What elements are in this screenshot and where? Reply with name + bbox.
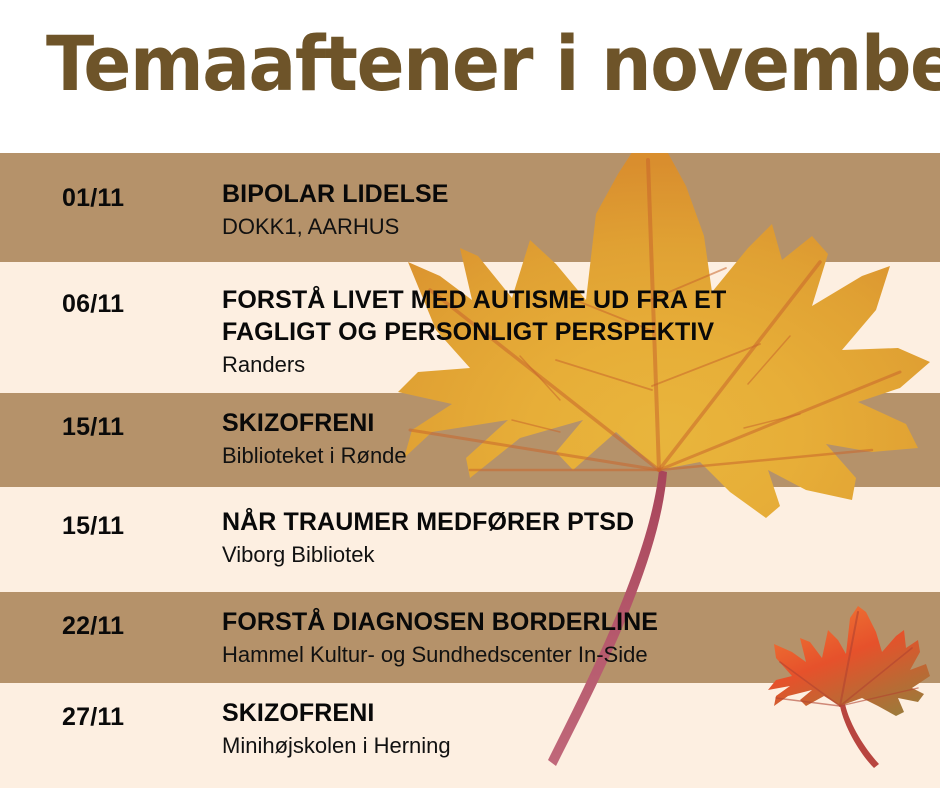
event-details: SKIZOFRENIMinihøjskolen i Herning <box>222 697 930 760</box>
event-venue: Viborg Bibliotek <box>222 540 930 569</box>
schedule-row[interactable]: 06/11FORSTÅ LIVET MED AUTISME UD FRA ET … <box>0 262 940 393</box>
event-date: 22/11 <box>62 612 124 641</box>
event-details: FORSTÅ LIVET MED AUTISME UD FRA ET FAGLI… <box>222 284 930 379</box>
poster-canvas: Temaaftener i november 01/11BIPOLAR LIDE… <box>0 0 940 788</box>
event-details: FORSTÅ DIAGNOSEN BORDERLINEHammel Kultur… <box>222 606 930 669</box>
event-date: 15/11 <box>62 512 124 541</box>
schedule-row[interactable]: 15/11NÅR TRAUMER MEDFØRER PTSDViborg Bib… <box>0 487 940 592</box>
event-venue: Minihøjskolen i Herning <box>222 731 930 760</box>
schedule-row[interactable]: 27/11SKIZOFRENIMinihøjskolen i Herning <box>0 683 940 788</box>
event-venue: DOKK1, AARHUS <box>222 212 930 241</box>
event-date: 15/11 <box>62 413 124 442</box>
schedule-row[interactable]: 15/11SKIZOFRENIBiblioteket i Rønde <box>0 393 940 487</box>
event-date: 06/11 <box>62 290 124 319</box>
event-venue: Biblioteket i Rønde <box>222 441 930 470</box>
event-venue: Randers <box>222 350 930 379</box>
event-details: BIPOLAR LIDELSEDOKK1, AARHUS <box>222 178 930 241</box>
event-title: SKIZOFRENI <box>222 697 930 729</box>
event-title: SKIZOFRENI <box>222 407 930 439</box>
event-details: NÅR TRAUMER MEDFØRER PTSDViborg Bibliote… <box>222 506 930 569</box>
event-venue: Hammel Kultur- og Sundhedscenter In-Side <box>222 640 930 669</box>
event-details: SKIZOFRENIBiblioteket i Rønde <box>222 407 930 470</box>
event-title: FORSTÅ LIVET MED AUTISME UD FRA ET FAGLI… <box>222 284 930 348</box>
event-title: FORSTÅ DIAGNOSEN BORDERLINE <box>222 606 930 638</box>
event-title: BIPOLAR LIDELSE <box>222 178 930 210</box>
page-title: Temaaftener i november <box>46 22 846 106</box>
event-title: NÅR TRAUMER MEDFØRER PTSD <box>222 506 930 538</box>
event-date: 01/11 <box>62 184 124 213</box>
poster-header: Temaaftener i november <box>0 0 940 153</box>
schedule-row[interactable]: 01/11BIPOLAR LIDELSEDOKK1, AARHUS <box>0 153 940 262</box>
schedule-row[interactable]: 22/11FORSTÅ DIAGNOSEN BORDERLINEHammel K… <box>0 592 940 683</box>
event-date: 27/11 <box>62 703 124 732</box>
